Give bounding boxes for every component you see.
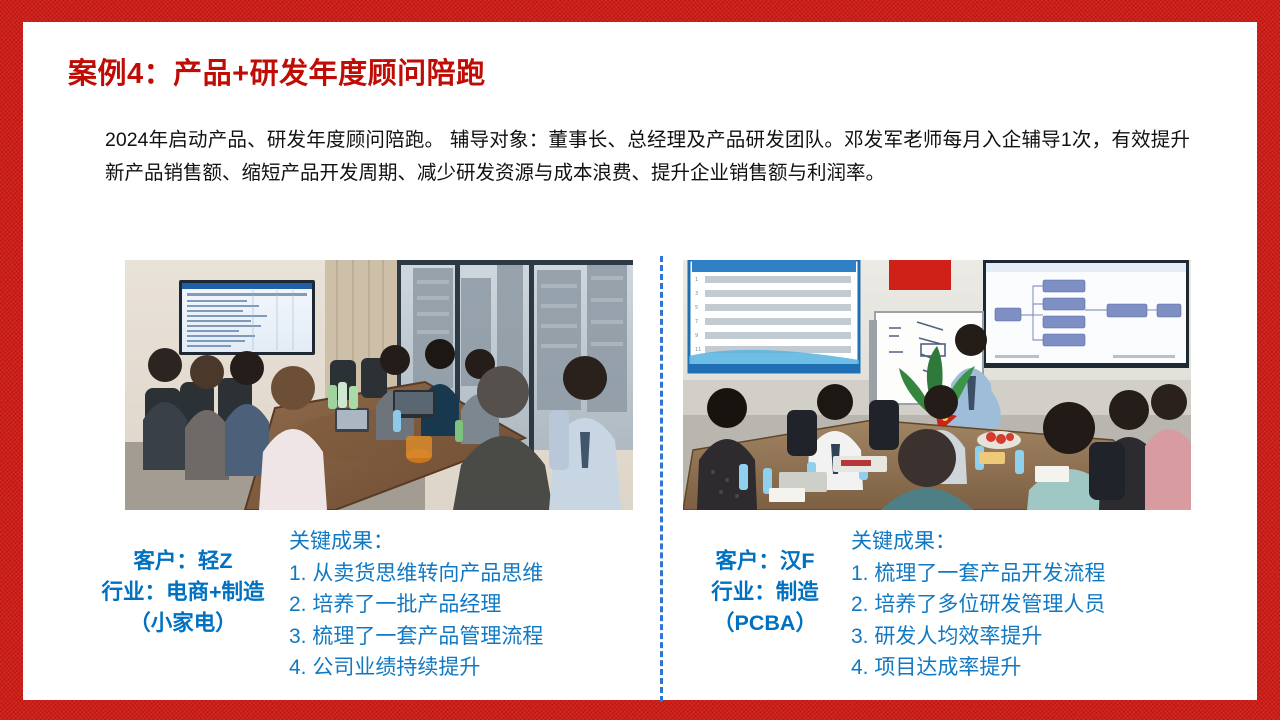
meeting-room-illustration	[125, 260, 633, 510]
case-photo-right: 135 7911	[683, 260, 1191, 510]
intro-paragraph: 2024年启动产品、研发年度顾问陪跑。 辅导对象：董事长、总经理及产品研发团队。…	[105, 124, 1190, 190]
vertical-divider	[660, 256, 663, 702]
result-item: 3. 研发人均效率提升	[851, 621, 1105, 653]
client-name-right: 客户：汉F	[715, 549, 814, 573]
result-item: 3. 梳理了一套产品管理流程	[289, 621, 543, 653]
results-heading-right: 关键成果：	[851, 526, 1105, 558]
svg-text:11: 11	[695, 347, 701, 353]
client-info-left: 客户：轻Z 行业：电商+制造 （小家电）	[83, 546, 283, 639]
results-heading-left: 关键成果：	[289, 526, 543, 558]
training-room-illustration: 135 7911	[683, 260, 1191, 510]
result-item: 2. 培养了多位研发管理人员	[851, 589, 1105, 621]
client-industry-sub-right: （PCBA）	[713, 611, 817, 635]
result-item: 4. 公司业绩持续提升	[289, 652, 543, 684]
client-industry-right: 行业：制造	[711, 580, 819, 604]
svg-text:1: 1	[695, 277, 698, 283]
page-title: 案例4：产品+研发年度顾问陪跑	[68, 50, 486, 92]
content-panel: 案例4：产品+研发年度顾问陪跑 2024年启动产品、研发年度顾问陪跑。 辅导对象…	[23, 22, 1257, 700]
svg-text:5: 5	[695, 305, 698, 311]
slide-root: 案例4：产品+研发年度顾问陪跑 2024年启动产品、研发年度顾问陪跑。 辅导对象…	[0, 0, 1280, 720]
result-item: 2. 培养了一批产品经理	[289, 589, 543, 621]
result-item: 4. 项目达成率提升	[851, 652, 1105, 684]
client-name-left: 客户：轻Z	[133, 549, 232, 573]
client-industry-sub-left: （小家电）	[129, 611, 237, 635]
client-info-right: 客户：汉F 行业：制造 （PCBA）	[685, 546, 845, 639]
svg-text:9: 9	[695, 333, 698, 339]
results-right: 关键成果： 1. 梳理了一套产品开发流程 2. 培养了多位研发管理人员 3. 研…	[851, 526, 1105, 684]
client-industry-left: 行业：电商+制造	[101, 580, 264, 604]
result-item: 1. 梳理了一套产品开发流程	[851, 558, 1105, 590]
case-photo-left	[125, 260, 633, 510]
result-item: 1. 从卖货思维转向产品思维	[289, 558, 543, 590]
svg-text:3: 3	[695, 291, 698, 297]
svg-text:7: 7	[695, 319, 698, 325]
results-left: 关键成果： 1. 从卖货思维转向产品思维 2. 培养了一批产品经理 3. 梳理了…	[289, 526, 543, 684]
